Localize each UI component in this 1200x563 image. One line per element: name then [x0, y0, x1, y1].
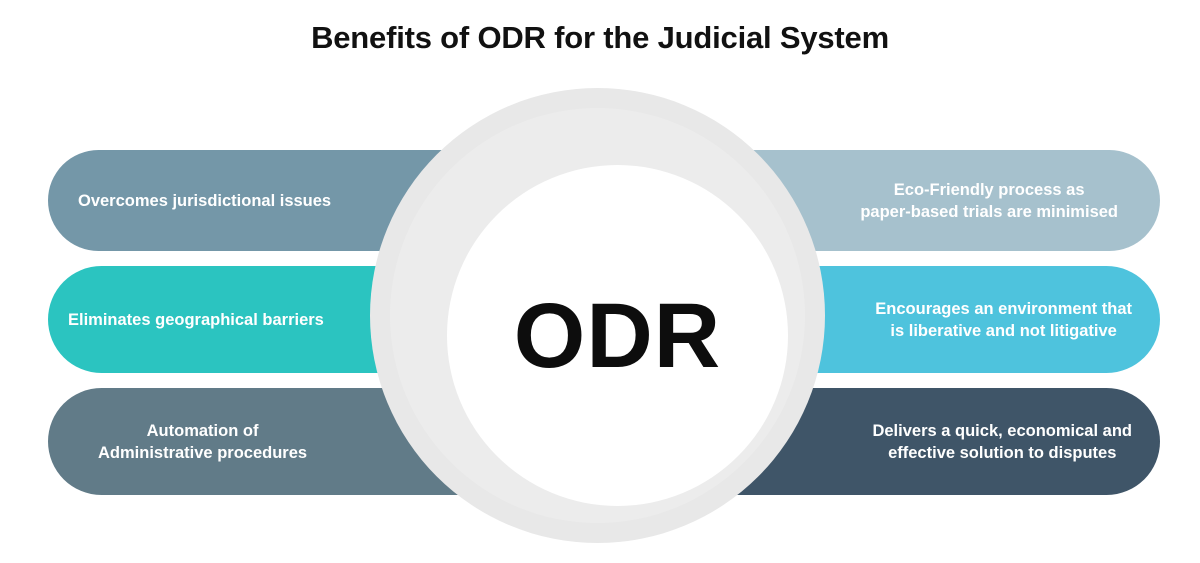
- benefit-label-left-2: Eliminates geographical barriers: [68, 309, 324, 331]
- benefit-label-left-3: Automation of Administrative procedures: [98, 420, 307, 464]
- infographic-canvas: Benefits of ODR for the Judicial System …: [0, 0, 1200, 563]
- benefit-label-right-1: Eco-Friendly process as paper-based tria…: [860, 179, 1118, 223]
- center-label-odr: ODR: [514, 290, 721, 382]
- benefit-label-left-1: Overcomes jurisdictional issues: [78, 190, 331, 212]
- center-ring-outer: ODR: [370, 88, 825, 543]
- benefit-label-right-3: Delivers a quick, economical and effecti…: [872, 420, 1132, 464]
- page-title: Benefits of ODR for the Judicial System: [0, 18, 1200, 58]
- center-ring-mid: ODR: [390, 108, 805, 523]
- benefit-label-right-2: Encourages an environment that is libera…: [875, 298, 1132, 342]
- center-ring-inner: ODR: [447, 165, 788, 506]
